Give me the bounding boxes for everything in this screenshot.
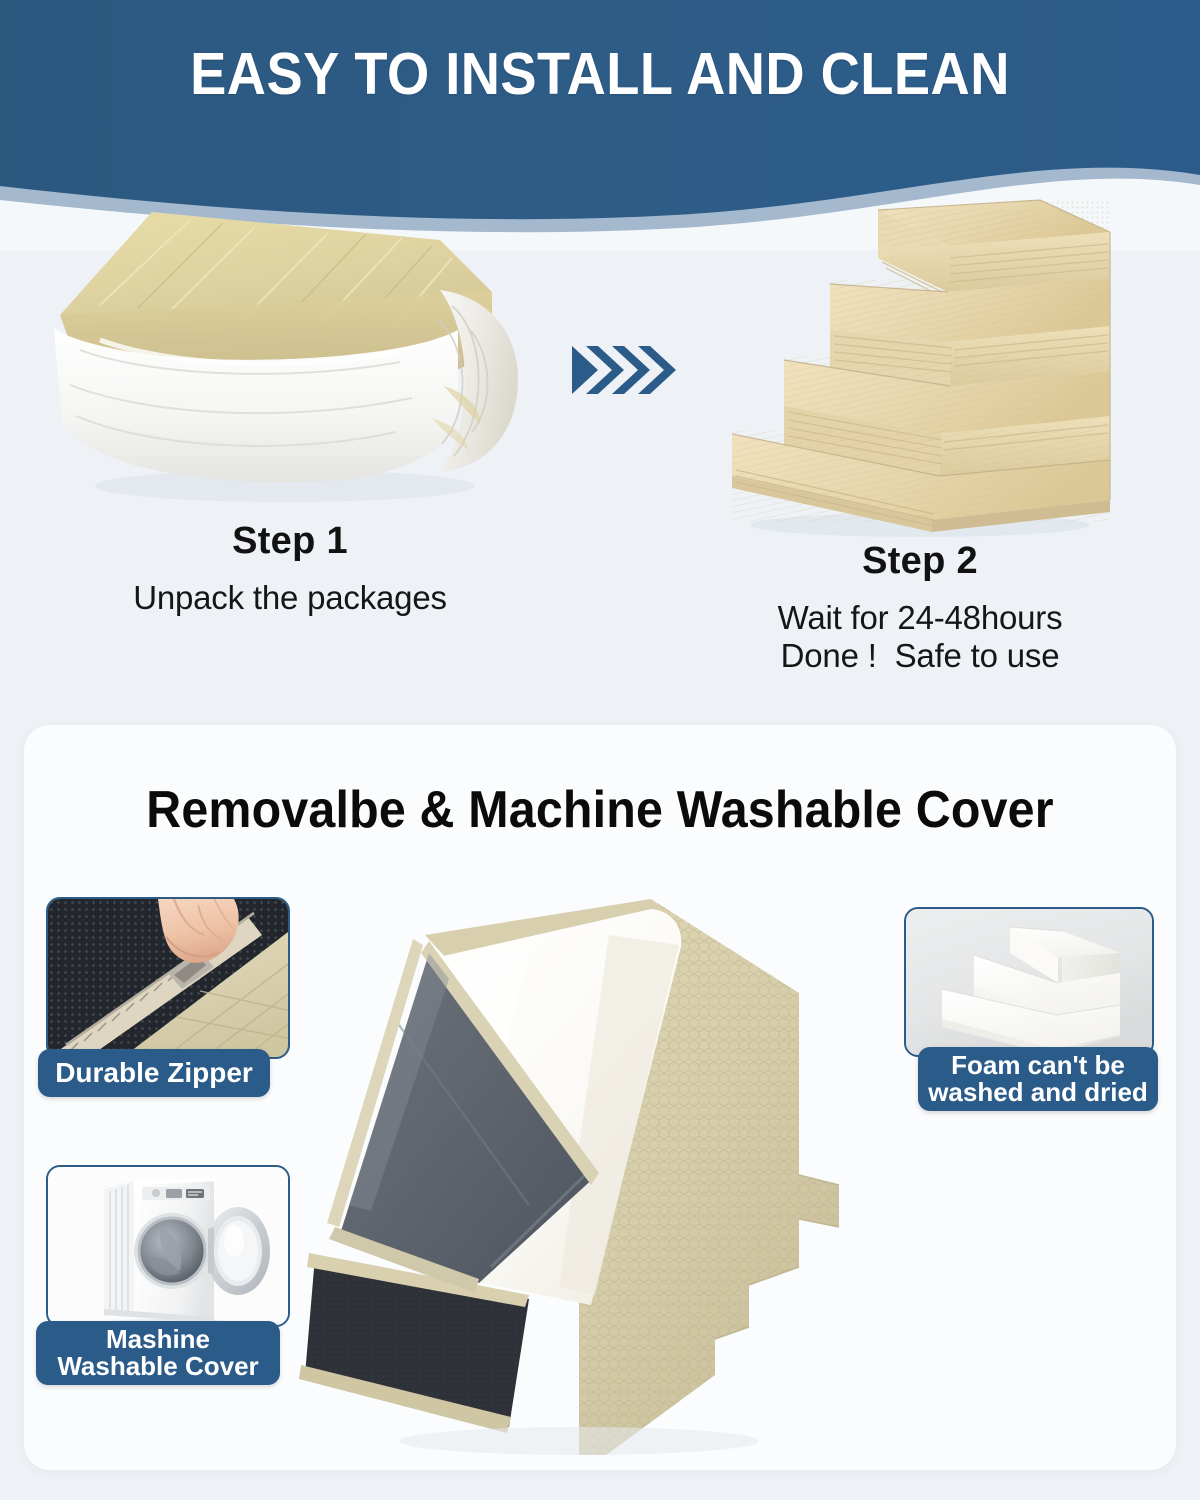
badge-durable-zipper-line-1: Durable Zipper xyxy=(55,1058,253,1087)
step-1-image-wrap xyxy=(40,180,540,520)
badge-durable-zipper: Durable Zipper xyxy=(38,1049,270,1097)
feature-thumb-foam xyxy=(904,907,1154,1057)
step-2-image-wrap xyxy=(710,180,1130,540)
badge-machine-washable-line-2: Washable Cover xyxy=(57,1353,258,1380)
step-2-description: Wait for 24-48hours Done ! Safe to use xyxy=(660,599,1180,674)
step-2-description-line-1: Wait for 24-48hours xyxy=(660,599,1180,637)
feature-thumb-washer xyxy=(46,1165,290,1327)
badge-foam-no-wash: Foam can't be washed and dried xyxy=(918,1047,1158,1111)
step-2-description-line-2: Done ! Safe to use xyxy=(660,637,1180,675)
foam-stairs-with-cover-peeled-back-photo xyxy=(279,875,919,1455)
install-steps-section: Step 1 Unpack the packages xyxy=(0,180,1200,720)
hand-pulling-zipper-photo xyxy=(48,899,290,1059)
step-2-block: Step 2 Wait for 24-48hours Done ! Safe t… xyxy=(660,180,1180,674)
page-title: EASY TO INSTALL AND CLEAN xyxy=(48,40,1152,108)
step-1-block: Step 1 Unpack the packages xyxy=(10,180,570,617)
beige-foam-pet-stairs-photo xyxy=(710,180,1130,540)
badge-foam-no-wash-line-1: Foam can't be xyxy=(951,1052,1125,1079)
badge-machine-washable-line-1: Mashine xyxy=(106,1326,210,1353)
step-1-label: Step 1 xyxy=(10,520,570,563)
step-1-description-line-1: Unpack the packages xyxy=(10,579,570,617)
washable-cover-card: Removalbe & Machine Washable Cover xyxy=(24,725,1176,1470)
step-2-label: Step 2 xyxy=(660,540,1180,583)
white-foam-stairs-photo xyxy=(906,909,1154,1057)
step-1-description: Unpack the packages xyxy=(10,579,570,617)
feature-thumb-zipper xyxy=(46,897,290,1059)
vacuum-packed-foam-roll-photo xyxy=(40,180,540,520)
badge-machine-washable: Mashine Washable Cover xyxy=(36,1321,280,1385)
cover-section-title: Removalbe & Machine Washable Cover xyxy=(64,780,1135,840)
front-load-washing-machine-photo xyxy=(48,1167,290,1327)
badge-foam-no-wash-line-2: washed and dried xyxy=(928,1079,1148,1106)
cover-main-image-wrap xyxy=(279,875,919,1455)
